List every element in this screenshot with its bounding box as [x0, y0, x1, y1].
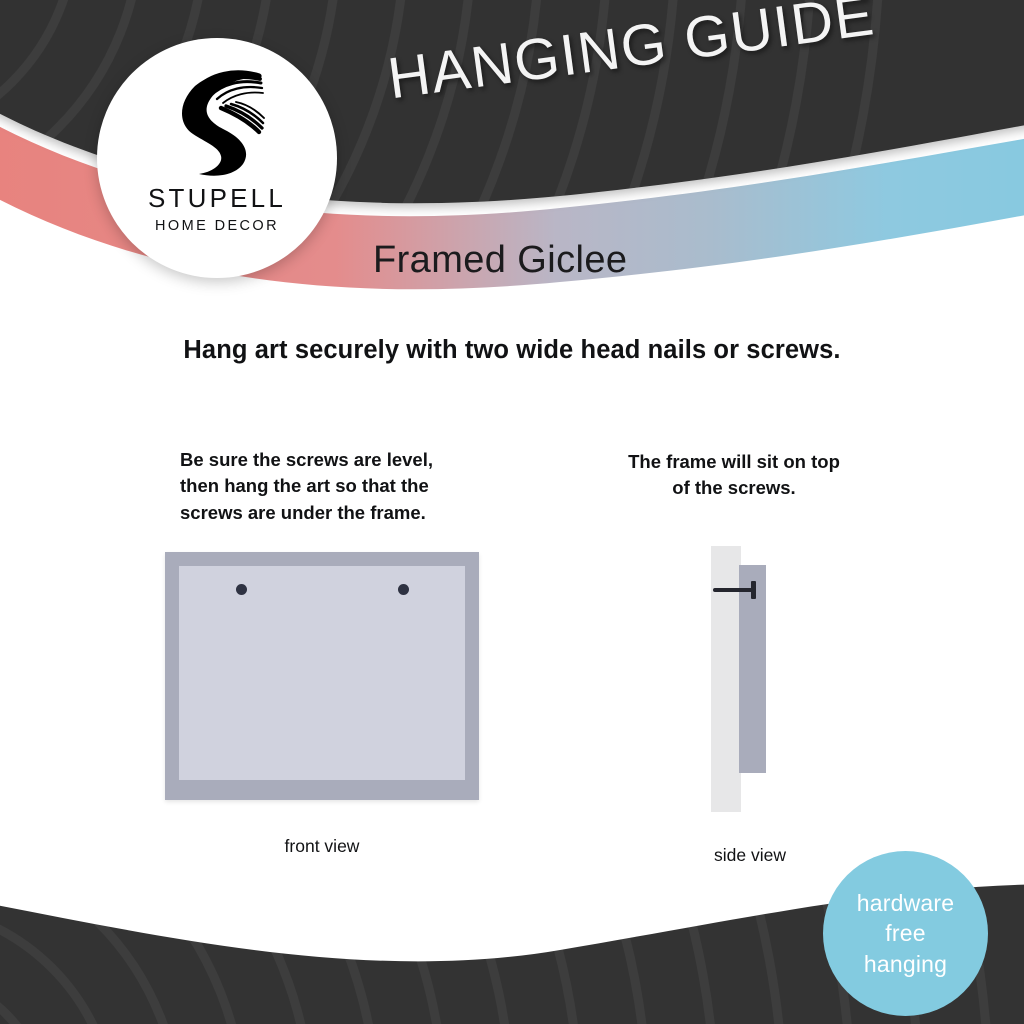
badge-line-2: free [885, 918, 925, 949]
nail-head-icon [751, 581, 756, 599]
logo-brand-name: STUPELL [148, 185, 286, 211]
picture-frame-art-panel [179, 566, 465, 780]
side-view-label: side view [660, 845, 840, 866]
hanging-guide-page: STUPELL HOME DECOR HANGING GUIDE Framed … [0, 0, 1024, 1024]
stupell-swoosh-mark-icon [165, 64, 269, 178]
hardware-free-hanging-badge: hardware free hanging [823, 851, 988, 1016]
front-view-diagram [165, 552, 479, 800]
front-view-caption-line-1: Be sure the screws are level, [180, 447, 480, 473]
side-view-caption: The frame will sit on top of the screws. [600, 449, 868, 502]
front-view-caption: Be sure the screws are level, then hang … [180, 447, 480, 526]
badge-line-3: hanging [864, 949, 947, 980]
stupell-logo-badge: STUPELL HOME DECOR [97, 38, 337, 278]
front-view-caption-line-2: then hang the art so that the [180, 473, 480, 499]
side-view-diagram [705, 546, 795, 816]
logo-tagline: HOME DECOR [155, 219, 279, 234]
front-view-caption-line-3: screws are under the frame. [180, 500, 480, 526]
main-instruction-text: Hang art securely with two wide head nai… [0, 336, 1024, 365]
front-view-label: front view [165, 836, 479, 857]
screw-dot-right-icon [398, 584, 409, 595]
side-view-caption-line-2: of the screws. [600, 475, 868, 501]
screw-dot-left-icon [236, 584, 247, 595]
wall-strip [711, 546, 741, 812]
page-title: HANGING GUIDE [384, 0, 879, 112]
nail-shaft-icon [713, 588, 755, 592]
side-view-caption-line-1: The frame will sit on top [600, 449, 868, 475]
product-subtitle: Framed Giclee [373, 239, 627, 282]
badge-line-1: hardware [857, 888, 955, 919]
